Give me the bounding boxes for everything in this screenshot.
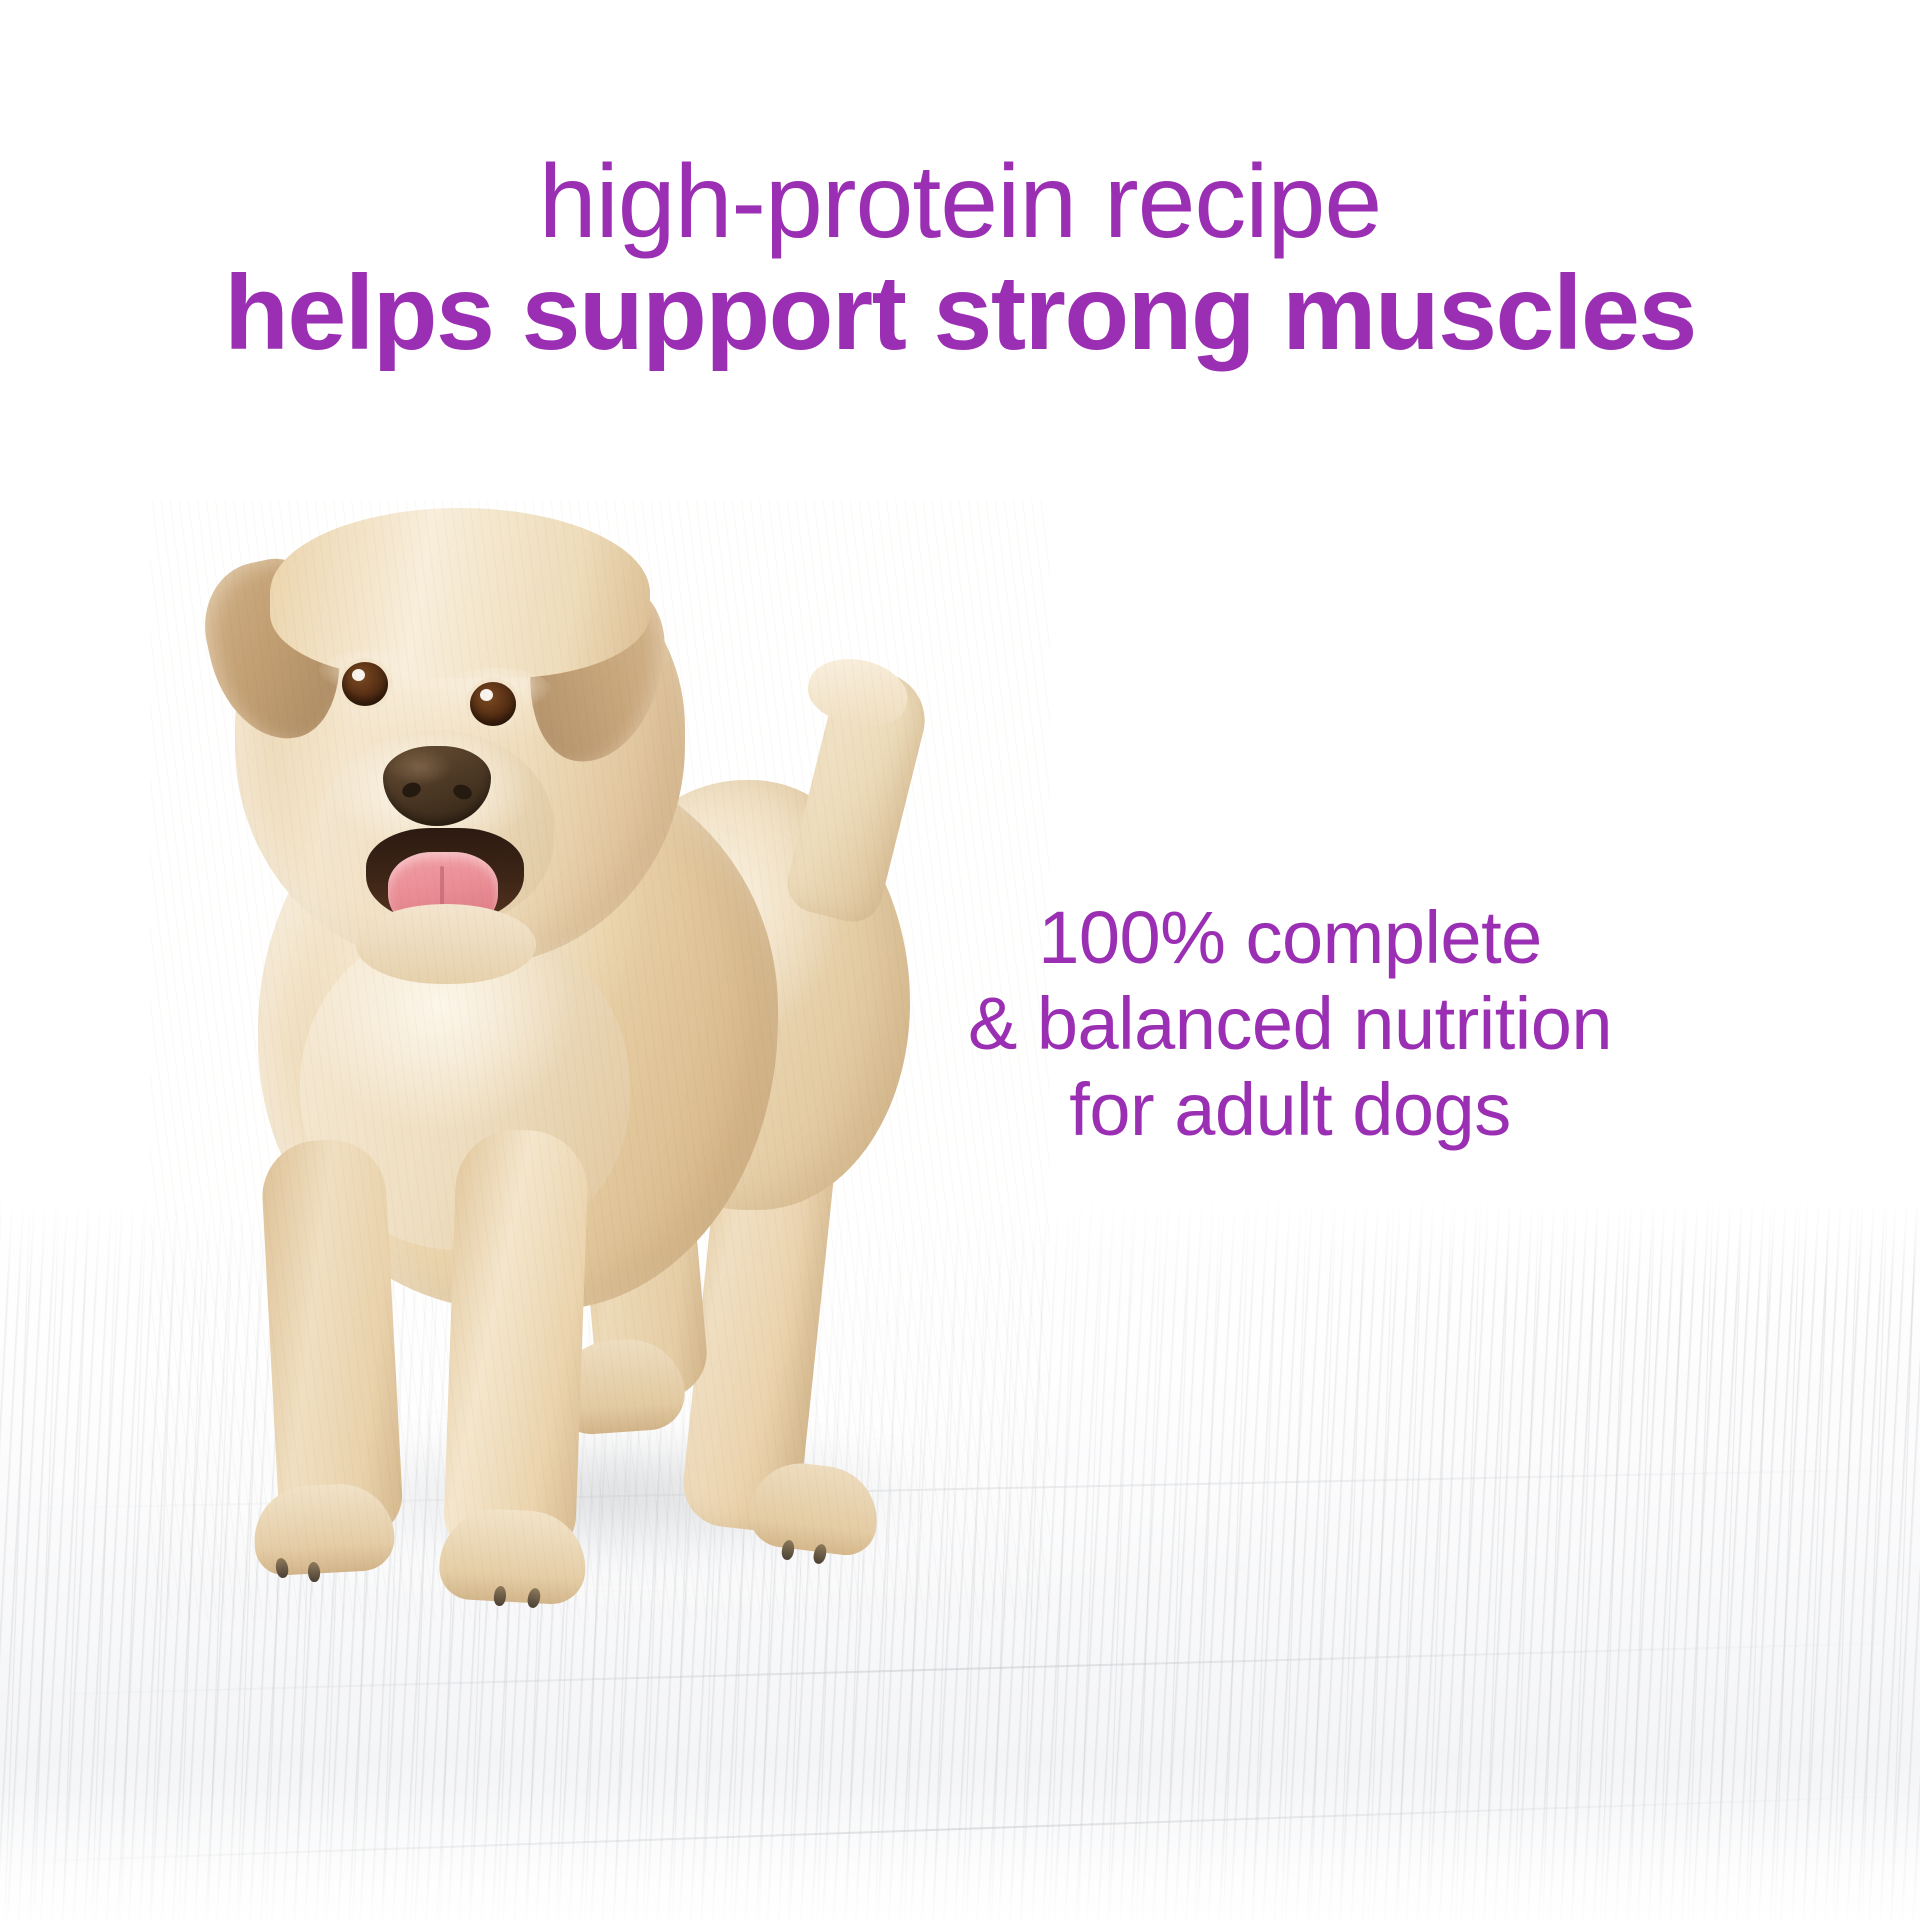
claim-line-3: for adult dogs bbox=[870, 1067, 1710, 1153]
headline-line-1: high-protein recipe bbox=[0, 150, 1920, 254]
dog-left-eye bbox=[342, 662, 388, 706]
product-panel: high-protein recipe helps support strong… bbox=[0, 0, 1920, 1920]
floor-plank-seam bbox=[1, 1794, 1920, 1863]
dog-eye-glint bbox=[352, 669, 365, 681]
dog-front-left-leg bbox=[260, 1137, 405, 1543]
dog-eye-glint bbox=[480, 689, 493, 701]
nutrition-claim: 100% complete & balanced nutrition for a… bbox=[870, 895, 1710, 1152]
claim-line-2: & balanced nutrition bbox=[870, 981, 1710, 1067]
floor-plank-seam bbox=[0, 1641, 1919, 1697]
dog-forehead bbox=[270, 508, 650, 678]
dog-right-eye bbox=[470, 682, 516, 726]
claim-line-1: 100% complete bbox=[870, 895, 1710, 981]
headline-line-2: helps support strong muscles bbox=[0, 260, 1920, 366]
headline: high-protein recipe helps support strong… bbox=[0, 150, 1920, 366]
dog-claw bbox=[493, 1585, 507, 1606]
dog-chin-fur bbox=[356, 904, 536, 984]
dog-front-right-leg bbox=[443, 1128, 590, 1562]
